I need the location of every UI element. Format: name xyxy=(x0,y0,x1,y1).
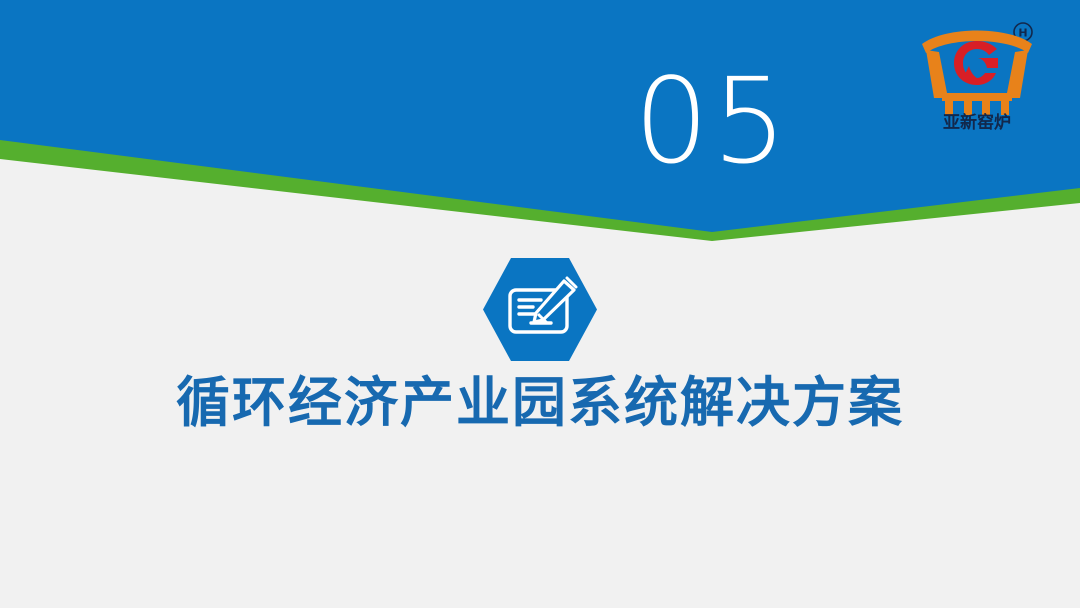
company-logo: H xyxy=(912,10,1042,132)
document-pen-hexagon-icon xyxy=(481,256,599,363)
logo-brand-text: 亚新窑炉 xyxy=(943,112,1011,132)
flame-swirl-icon xyxy=(954,41,998,85)
page-title: 循环经济产业园系统解决方案 xyxy=(0,371,1080,435)
slide-root: 05 H xyxy=(0,0,1080,608)
